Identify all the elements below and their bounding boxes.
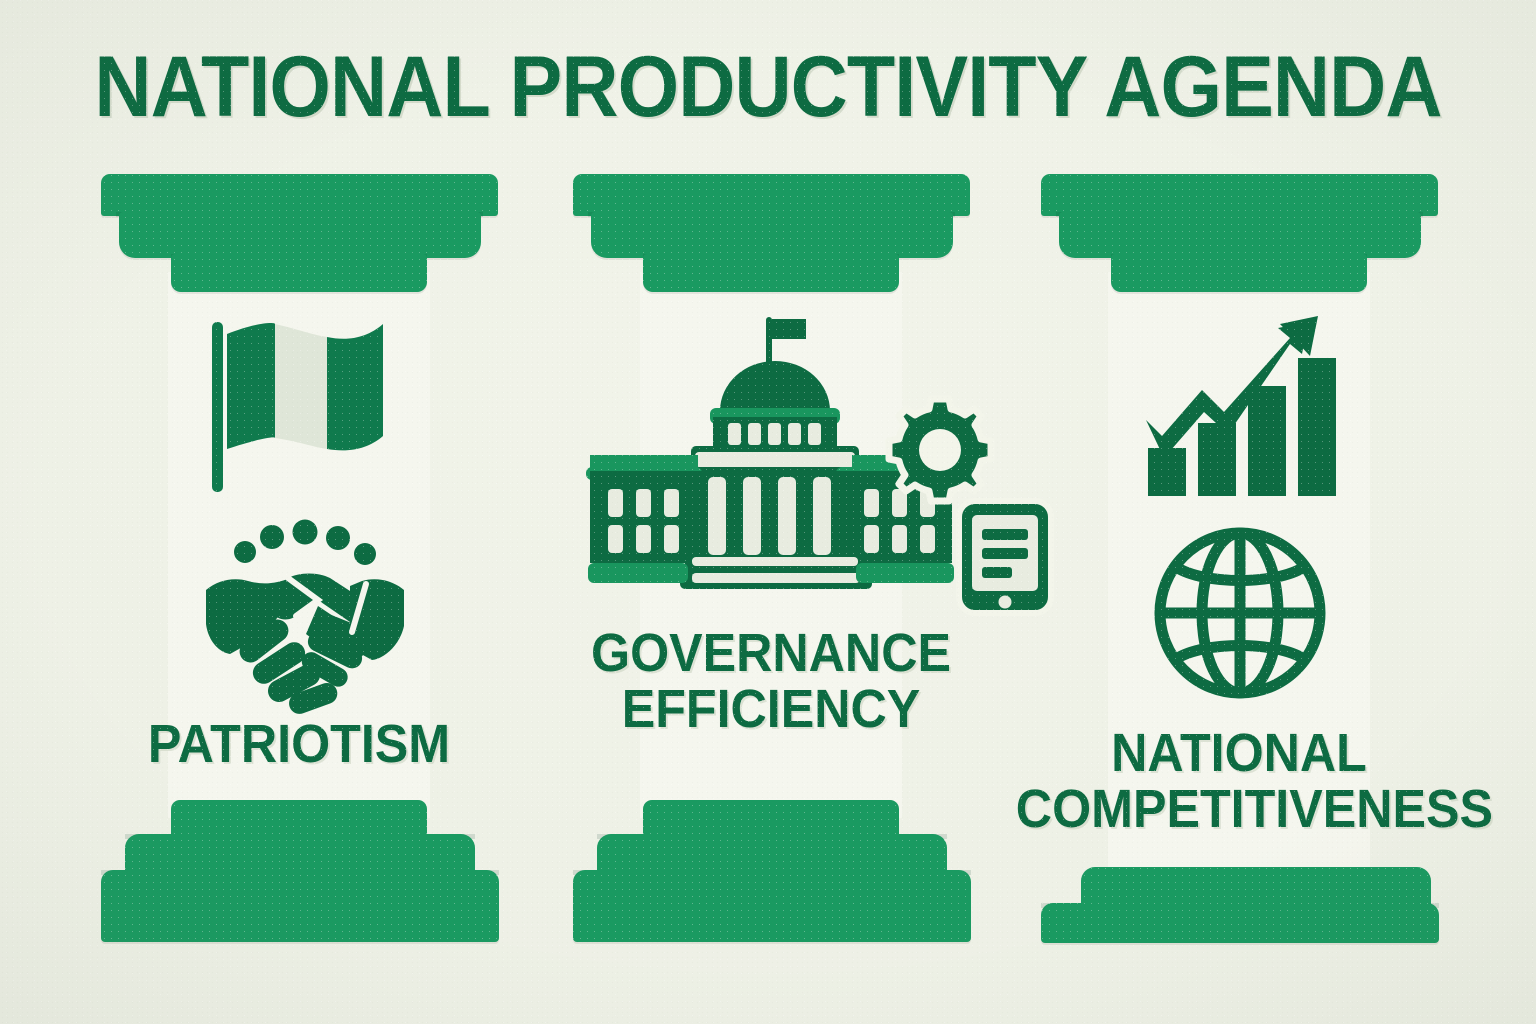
page-title: NATIONAL PRODUCTIVITY AGENDA: [61, 44, 1474, 130]
pillar-capital-tier-mid: [1059, 212, 1421, 258]
pillar-base-tier-mid: [597, 834, 947, 874]
globe-icon: [1150, 525, 1330, 701]
pillar-label-patriotism: PATRIOTISM: [76, 718, 522, 771]
pillar-label-governance-line2: EFFICIENCY: [548, 683, 994, 736]
icon-wrap-government-cluster: [580, 305, 1050, 615]
pillar-capital-tier-mid: [119, 212, 481, 258]
pillar-capital-tier-top: [1041, 174, 1438, 216]
pillar-capital-tier-bottom: [171, 254, 427, 292]
pillar-base-tier-top: [643, 800, 899, 838]
pillar-base-tier-mid: [1081, 867, 1431, 907]
nigeria-flag-icon: [205, 312, 400, 492]
icon-wrap-nigeria-flag: [205, 312, 400, 492]
pillar-base-tier-mid: [125, 834, 475, 874]
pillar-capital-tier-top: [573, 174, 970, 216]
pillar-capital-tier-bottom: [1111, 254, 1367, 292]
pillar-label-governance-line1: GOVERNANCE: [548, 627, 994, 680]
icon-wrap-handshake: [200, 512, 410, 702]
pillar-capital-tier-bottom: [643, 254, 899, 292]
pillar-base-tier-bottom: [573, 870, 971, 942]
gear-icon: [880, 390, 1000, 510]
growth-bar-chart-icon: [1140, 308, 1340, 508]
infographic-canvas: NATIONAL PRODUCTIVITY AGENDA: [0, 0, 1536, 1024]
pillar-base-tier-bottom: [101, 870, 499, 942]
pillar-capital-tier-mid: [591, 212, 953, 258]
handshake-icon: [200, 512, 410, 702]
pillar-base-tier-bottom: [1041, 903, 1439, 943]
icon-wrap-globe: [1150, 525, 1330, 701]
pillar-capital-tier-top: [101, 174, 498, 216]
pillar-base-tier-top: [171, 800, 427, 838]
tablet-device-icon: [955, 497, 1055, 617]
pillar-label-competitiveness-line1: NATIONAL: [1016, 727, 1462, 780]
pillar-label-competitiveness-line2: COMPETITIVENESS: [1016, 783, 1462, 836]
icon-wrap-growth-chart: [1140, 308, 1340, 508]
